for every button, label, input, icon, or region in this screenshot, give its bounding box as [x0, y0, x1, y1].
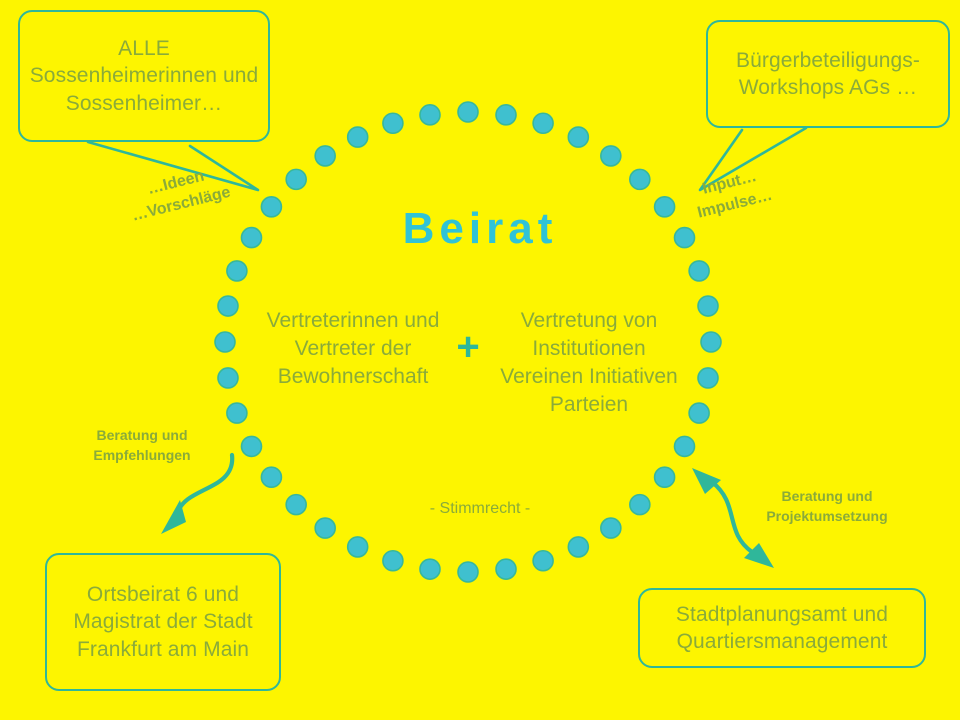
box-ortsbeirat-magistrat[interactable]: Ortsbeirat 6 und Magistrat der Stadt Fra… — [45, 553, 281, 691]
ring-dot — [218, 296, 238, 316]
ring-dot — [420, 559, 440, 579]
ring-dot — [241, 436, 261, 456]
box-ortsbeirat-magistrat-text: Ortsbeirat 6 und Magistrat der Stadt Fra… — [47, 581, 279, 663]
ring-dot — [458, 562, 478, 582]
ring-dot — [383, 551, 403, 571]
ring-dot — [227, 261, 247, 281]
ring-dot — [215, 332, 235, 352]
ring-dot — [286, 169, 306, 189]
ring-dot — [601, 146, 621, 166]
ring-dot — [533, 113, 553, 133]
ring-dot — [655, 467, 675, 487]
ring-dot — [218, 368, 238, 388]
ring-dot — [348, 127, 368, 147]
ring-dot — [383, 113, 403, 133]
ring-dot — [601, 518, 621, 538]
ring-dot — [496, 559, 516, 579]
annotation-beratung-projektumsetzung: Beratung und Projektumsetzung — [742, 486, 912, 527]
center-column-vertreterinnen: Vertreterinnen und Vertreter der Bewohne… — [262, 307, 444, 391]
ring-dot — [227, 403, 247, 423]
ring-dot — [698, 368, 718, 388]
arrow-projektumsetzung-head-up — [692, 468, 721, 494]
ring-dot — [533, 551, 553, 571]
ring-dot — [315, 146, 335, 166]
ring-dot — [458, 102, 478, 122]
ring-dot — [630, 169, 650, 189]
diagram-canvas: ALLE Sossenheimerinnen und Sossenheimer…… — [0, 0, 960, 720]
ring-dot — [420, 105, 440, 125]
ring-dot — [568, 537, 588, 557]
ring-dot — [698, 296, 718, 316]
speech-bubble-alle-text: ALLE Sossenheimerinnen und Sossenheimer… — [20, 35, 268, 117]
box-stadtplanungsamt-quartiersmanagement-text: Stadtplanungsamt und Quartiersmanagement — [640, 601, 924, 656]
ring-dot — [348, 537, 368, 557]
box-stadtplanungsamt-quartiersmanagement[interactable]: Stadtplanungsamt und Quartiersmanagement — [638, 588, 926, 668]
annotation-beratung-empfehlungen: Beratung und Empfehlungen — [72, 425, 212, 466]
ring-dot — [568, 127, 588, 147]
ring-dot — [496, 105, 516, 125]
ring-dot — [689, 403, 709, 423]
ring-dot — [315, 518, 335, 538]
ring-dot — [701, 332, 721, 352]
plus-icon: + — [450, 330, 486, 366]
speech-bubble-buergerbeteiligung-text: Bürgerbeteiligungs- Workshops AGs … — [708, 47, 948, 102]
center-column-institutionen: Vertretung von Institutionen Vereinen In… — [500, 307, 678, 419]
speech-bubble-buergerbeteiligung[interactable]: Bürgerbeteiligungs- Workshops AGs … — [706, 20, 950, 128]
speech-bubble-alle-sossenheimer[interactable]: ALLE Sossenheimerinnen und Sossenheimer… — [18, 10, 270, 142]
ring-dot — [675, 436, 695, 456]
ring-dot — [261, 467, 281, 487]
arrow-projektumsetzung-head-down — [744, 543, 774, 568]
ring-dot — [689, 261, 709, 281]
